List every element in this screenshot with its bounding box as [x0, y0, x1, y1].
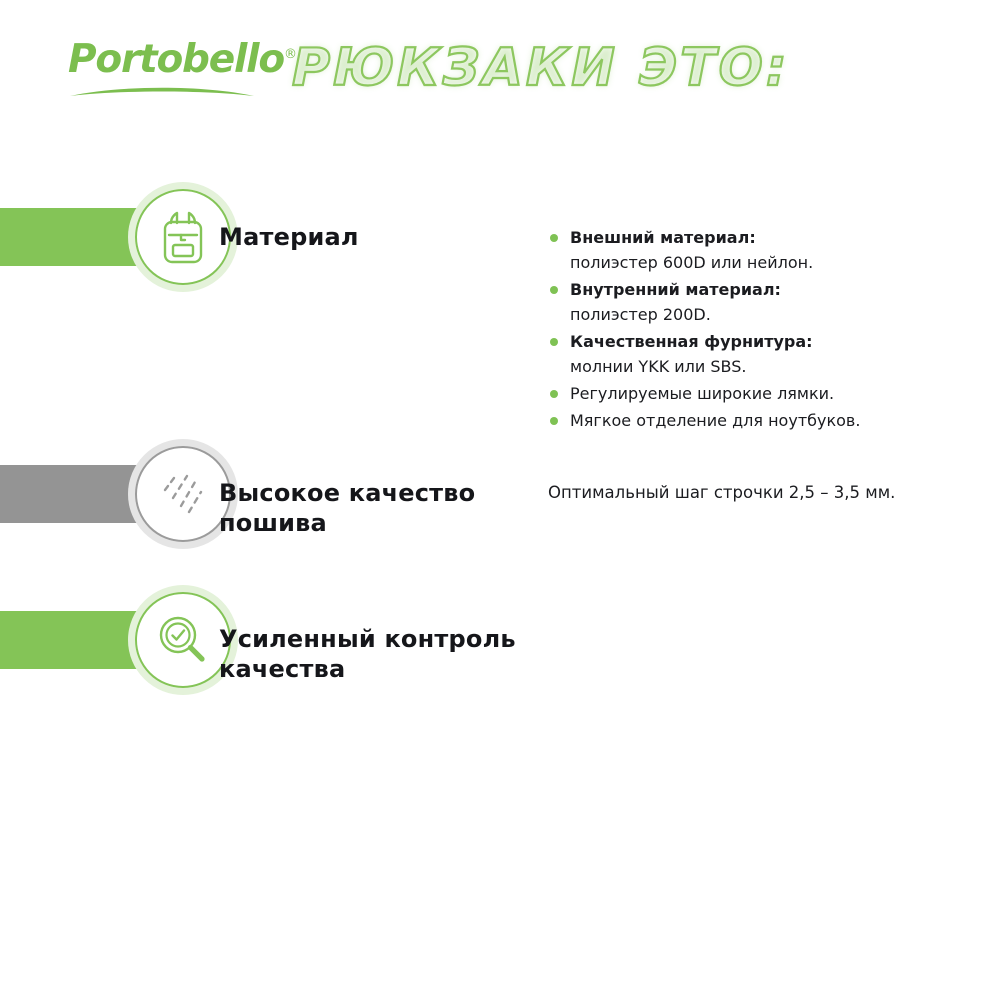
- material-bullet-list: Внешний материал: полиэстер 600D или ней…: [548, 225, 968, 433]
- bullet-detail: Мягкое отделение для ноутбуков.: [570, 408, 968, 433]
- magnifier-check-icon: [151, 608, 215, 672]
- list-item: Качественная фурнитура: молнии YKK или S…: [548, 329, 968, 379]
- list-item: Мягкое отделение для ноутбуков.: [548, 408, 968, 433]
- page-title: РЮКЗАКИ ЭТО:: [292, 38, 790, 98]
- bullet-heading: Внешний материал:: [570, 225, 968, 250]
- bullet-heading: Качественная фурнитура:: [570, 329, 968, 354]
- brand-logo: Portobello®: [68, 40, 263, 102]
- backpack-icon: [151, 205, 215, 269]
- stitching-note: Оптимальный шаг строчки 2,5 – 3,5 мм.: [548, 481, 895, 505]
- feature-title-quality-control: Усиленный контроль качества: [219, 624, 516, 684]
- bullet-heading: Внутренний материал:: [570, 277, 968, 302]
- material-details: Внешний материал: полиэстер 600D или ней…: [548, 225, 968, 435]
- brand-logo-swoosh-icon: [70, 84, 254, 98]
- list-item: Регулируемые широкие лямки.: [548, 381, 968, 406]
- bullet-detail: полиэстер 600D или нейлон.: [570, 250, 968, 275]
- stitching-icon: [151, 462, 215, 526]
- brand-logo-text: Portobello: [68, 37, 284, 82]
- feature-title-material: Материал: [219, 222, 359, 252]
- bullet-detail: полиэстер 200D.: [570, 302, 968, 327]
- bullet-detail: Регулируемые широкие лямки.: [570, 381, 968, 406]
- brand-logo-wordmark: Portobello®: [68, 40, 263, 79]
- page-header: Portobello® РЮКЗАКИ ЭТО:: [0, 0, 1000, 140]
- feature-row-quality-control: Усиленный контроль качества: [0, 585, 1000, 695]
- bullet-detail: молнии YKK или SBS.: [570, 354, 968, 379]
- list-item: Внешний материал: полиэстер 600D или ней…: [548, 225, 968, 275]
- list-item: Внутренний материал: полиэстер 200D.: [548, 277, 968, 327]
- feature-title-stitching: Высокое качество пошива: [219, 478, 475, 538]
